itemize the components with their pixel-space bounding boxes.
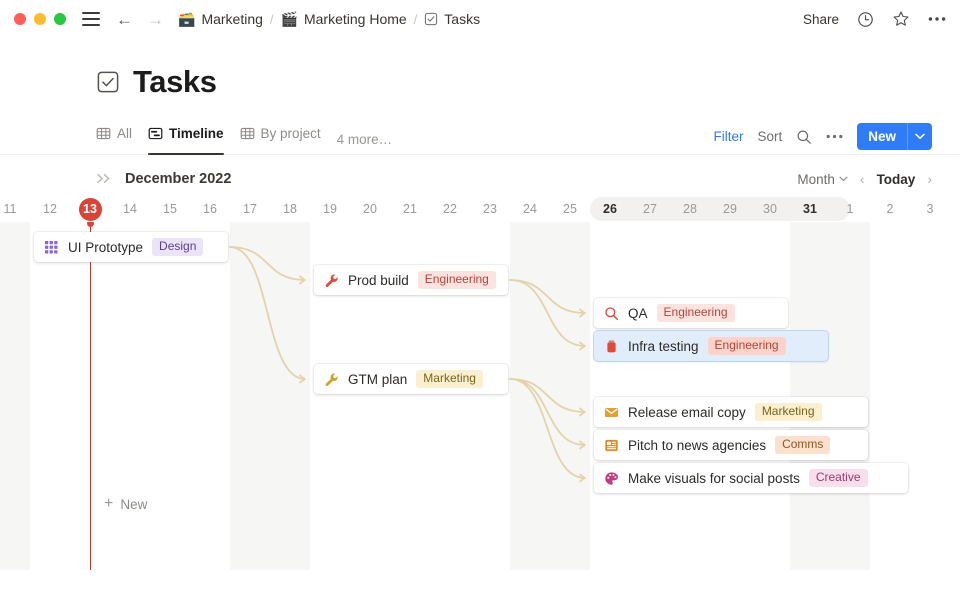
timeline-header: December 2022 Month ‹ Today › (0, 164, 960, 194)
ruler-day-22[interactable]: 22 (430, 196, 470, 222)
ruler-day-24[interactable]: 24 (510, 196, 550, 222)
share-button[interactable]: Share (803, 12, 839, 27)
ruler-day-label: 13 (79, 198, 102, 221)
table-icon (240, 126, 255, 141)
task-title: Pitch to news agencies (628, 438, 766, 453)
breadcrumb-separator: / (270, 12, 274, 27)
breadcrumb-label: Marketing Home (304, 11, 407, 27)
breadcrumb-item-marketing[interactable]: 🗃️ Marketing (178, 11, 263, 27)
ruler-day-label: 15 (163, 202, 177, 216)
weekend-column (230, 222, 310, 570)
timeline-board: UI PrototypeDesignProd buildEngineeringG… (0, 222, 960, 570)
ruler-day-28[interactable]: 28 (670, 196, 710, 222)
page-header: Tasks (0, 38, 960, 100)
page-icon-checkbox-icon (96, 70, 120, 94)
ruler-day-20[interactable]: 20 (350, 196, 390, 222)
ruler-day-13[interactable]: 13 (70, 196, 110, 222)
task-title: QA (628, 306, 648, 321)
ruler-day-label: 24 (523, 202, 537, 216)
new-button[interactable]: New (857, 123, 907, 150)
ruler-day-label: 30 (763, 202, 777, 216)
ruler-day-29[interactable]: 29 (710, 196, 750, 222)
breadcrumb-separator: / (414, 12, 418, 27)
ruler-day-label: 17 (243, 202, 257, 216)
test-tube-icon (603, 338, 620, 355)
table-icon (96, 126, 111, 141)
prev-period-button[interactable]: ‹ (860, 171, 865, 187)
ruler-day-2[interactable]: 2 (870, 196, 910, 222)
minimize-button[interactable] (34, 13, 46, 25)
tab-by-project[interactable]: By project (240, 120, 321, 154)
plus-icon: + (104, 496, 113, 512)
ruler-day-label: 14 (123, 202, 137, 216)
sort-button[interactable]: Sort (757, 129, 782, 144)
ruler-day-12[interactable]: 12 (30, 196, 70, 222)
ruler-day-15[interactable]: 15 (150, 196, 190, 222)
task-title: Prod build (348, 273, 409, 288)
ruler-day-11[interactable]: 11 (0, 196, 30, 222)
ruler-day-label: 12 (43, 202, 57, 216)
ellipsis-icon[interactable] (928, 16, 946, 22)
ruler-day-label: 19 (323, 202, 337, 216)
tab-all[interactable]: All (96, 120, 132, 154)
weekend-column (0, 222, 30, 570)
ruler-day-3[interactable]: 3 (910, 196, 950, 222)
nav-arrows: ← → (116, 11, 164, 28)
timeline-scale-select[interactable]: Month (797, 172, 848, 187)
ruler-day-16[interactable]: 16 (190, 196, 230, 222)
weekend-column (790, 222, 870, 570)
ruler-day-25[interactable]: 25 (550, 196, 590, 222)
newspaper-icon (603, 437, 620, 454)
task-title: Infra testing (628, 339, 699, 354)
task-tag: Comms (775, 436, 830, 454)
breadcrumb-item-marketing-home[interactable]: 🎬 Marketing Home (281, 11, 407, 27)
breadcrumb: 🗃️ Marketing / 🎬 Marketing Home / Tasks (178, 11, 480, 27)
ruler-day-23[interactable]: 23 (470, 196, 510, 222)
view-toolbar: All Timeline By project 4 more… (0, 120, 960, 155)
ruler-day-label: 23 (483, 202, 497, 216)
ruler-day-label: 26 (603, 202, 617, 216)
page-title: Tasks (133, 64, 217, 100)
traffic-lights (14, 13, 66, 25)
task-card-prod-build[interactable]: Prod buildEngineering (314, 265, 508, 295)
ellipsis-icon[interactable] (826, 134, 843, 139)
new-task-label: New (120, 497, 147, 512)
ruler-day-17[interactable]: 17 (230, 196, 270, 222)
task-title: GTM plan (348, 372, 407, 387)
palette-icon (603, 470, 620, 487)
clock-icon[interactable] (857, 11, 874, 28)
ruler-day-21[interactable]: 21 (390, 196, 430, 222)
ruler-day-label: 11 (4, 202, 17, 216)
tab-label: All (117, 126, 132, 141)
ruler-day-label: 16 (203, 202, 217, 216)
back-button[interactable]: ← (116, 11, 133, 28)
ruler-day-label: 28 (683, 202, 697, 216)
breadcrumb-item-tasks[interactable]: Tasks (424, 11, 480, 27)
ruler-day-label: 31 (803, 202, 817, 216)
task-tag: Marketing (416, 370, 483, 388)
task-card-ui-prototype[interactable]: UI PrototypeDesign (34, 232, 228, 262)
chevron-down-icon (839, 176, 848, 182)
task-card-release-email-copy[interactable]: Release email copyMarketing (594, 397, 868, 427)
view-actions: Filter Sort New (713, 123, 932, 154)
checkbox-icon (424, 12, 438, 26)
ruler-day-label: 29 (723, 202, 737, 216)
close-button[interactable] (14, 13, 26, 25)
ruler-day-label: 18 (283, 202, 297, 216)
task-tag: Engineering (657, 304, 735, 322)
tab-label: Timeline (169, 126, 224, 141)
task-tag: Design (152, 238, 203, 256)
grid-icon (43, 239, 60, 256)
ruler-day-19[interactable]: 19 (310, 196, 350, 222)
tab-label: By project (261, 126, 321, 141)
new-button-group[interactable]: New (857, 123, 932, 150)
ruler-day-label: 22 (443, 202, 457, 216)
titlebar-actions: Share (803, 10, 946, 28)
ruler-day-label: 1 (847, 202, 854, 216)
timeline-month-label: December 2022 (125, 171, 231, 187)
ruler-day-label: 25 (563, 202, 577, 216)
task-tag: Engineering (708, 337, 786, 355)
today-marker-dot (87, 222, 94, 227)
more-views-button[interactable]: 4 more… (337, 132, 393, 154)
search-icon (603, 305, 620, 322)
task-title: UI Prototype (68, 240, 143, 255)
next-period-button[interactable]: › (927, 171, 932, 187)
archive-icon: 🗃️ (178, 12, 195, 26)
task-card-gtm-plan[interactable]: GTM planMarketing (314, 364, 508, 394)
ruler-day-31[interactable]: 31 (790, 196, 830, 222)
breadcrumb-label: Marketing (201, 11, 262, 27)
task-tag: Creative (809, 469, 868, 487)
weekend-column (510, 222, 590, 570)
ruler-day-label: 21 (403, 202, 417, 216)
wrench-icon (323, 272, 340, 289)
clapper-icon: 🎬 (281, 12, 298, 26)
task-title: Make visuals for social posts (628, 471, 800, 486)
new-task-row[interactable]: +New (104, 496, 147, 512)
timeline-icon (148, 126, 163, 141)
view-tabs: All Timeline By project 4 more… (96, 120, 392, 154)
today-marker-line (90, 222, 91, 570)
ruler-day-30[interactable]: 30 (750, 196, 790, 222)
ruler-day-label: 20 (363, 202, 377, 216)
task-tag: Engineering (418, 271, 496, 289)
timeline-ruler: 1112131415161718192021222324252627282930… (0, 196, 960, 222)
ruler-day-label: 3 (927, 202, 934, 216)
window-titlebar: ← → 🗃️ Marketing / 🎬 Marketing Home / Ta… (0, 0, 960, 38)
ruler-day-14[interactable]: 14 (110, 196, 150, 222)
task-tag: Marketing (755, 403, 822, 421)
tab-timeline[interactable]: Timeline (148, 120, 224, 154)
task-card-pitch-to-news-agencies[interactable]: Pitch to news agenciesComms (594, 430, 868, 460)
envelope-icon (603, 404, 620, 421)
ruler-day-label: 27 (643, 202, 657, 216)
task-card-make-visuals-for-social-posts[interactable]: Make visuals for social postsCreative (594, 463, 908, 493)
zoom-button[interactable] (54, 13, 66, 25)
ruler-day-26[interactable]: 26 (590, 196, 630, 222)
forward-button[interactable]: → (147, 11, 164, 28)
task-title: Release email copy (628, 405, 746, 420)
double-chevron-right-icon[interactable] (96, 171, 113, 187)
ruler-day-18[interactable]: 18 (270, 196, 310, 222)
task-card-infra-testing[interactable]: Infra testingEngineering (594, 331, 828, 361)
ruler-day-27[interactable]: 27 (630, 196, 670, 222)
ruler-day-1[interactable]: 1 (830, 196, 870, 222)
chevron-down-icon[interactable] (907, 123, 932, 150)
scale-label: Month (797, 172, 835, 187)
ruler-day-label: 2 (887, 202, 894, 216)
today-button[interactable]: Today (877, 172, 916, 187)
sidebar-toggle-icon[interactable] (82, 12, 100, 26)
breadcrumb-label: Tasks (444, 11, 480, 27)
search-icon[interactable] (796, 129, 812, 145)
star-icon[interactable] (892, 10, 910, 28)
wrench-icon (323, 371, 340, 388)
task-card-qa[interactable]: QAEngineering (594, 298, 788, 328)
filter-button[interactable]: Filter (713, 129, 743, 144)
